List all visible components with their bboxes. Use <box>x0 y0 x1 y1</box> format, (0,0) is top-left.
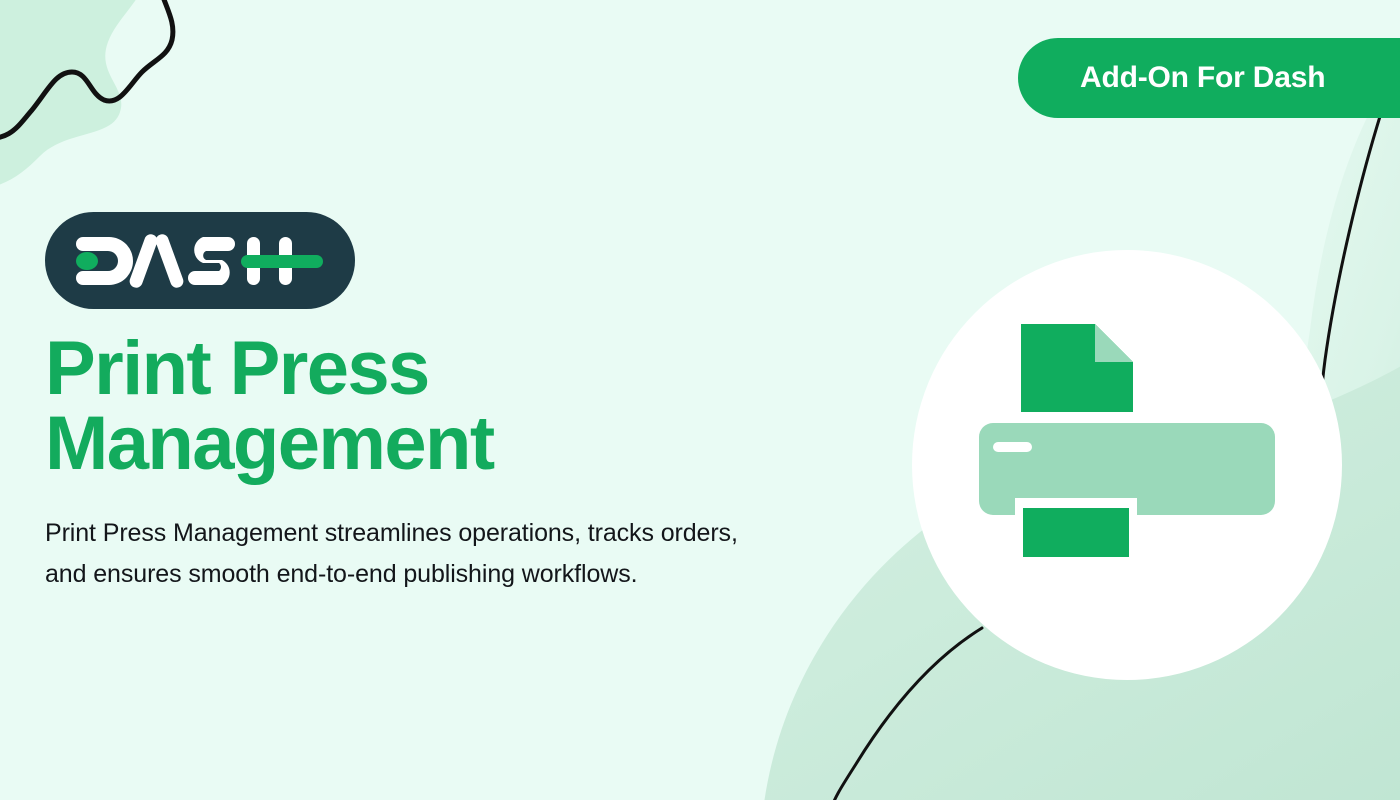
promo-banner: Add-On For Dash Print Press Managem <box>0 0 1400 800</box>
printer-illustration <box>912 250 1342 680</box>
page-title: Print Press Management <box>45 331 665 481</box>
addon-badge: Add-On For Dash <box>1018 38 1400 118</box>
dash-logo-wordmark <box>75 231 325 291</box>
dash-logo[interactable] <box>45 212 355 309</box>
addon-badge-label: Add-On For Dash <box>1080 61 1325 95</box>
document-page <box>1021 324 1133 412</box>
printer-slot <box>993 442 1032 452</box>
logo-letter-s <box>188 237 235 285</box>
document-fold <box>1095 324 1133 362</box>
wave-line-top-left <box>0 0 173 139</box>
logo-letter-a-right <box>154 232 185 289</box>
output-paper <box>1023 508 1129 557</box>
logo-accent-bar <box>241 255 323 268</box>
hero-description: Print Press Management streamlines opera… <box>45 513 780 594</box>
logo-accent-dot <box>76 252 98 270</box>
blob-top-left <box>0 0 152 190</box>
hero-content: Print Press Management Print Press Manag… <box>45 212 835 594</box>
printer-icon <box>977 320 1277 610</box>
